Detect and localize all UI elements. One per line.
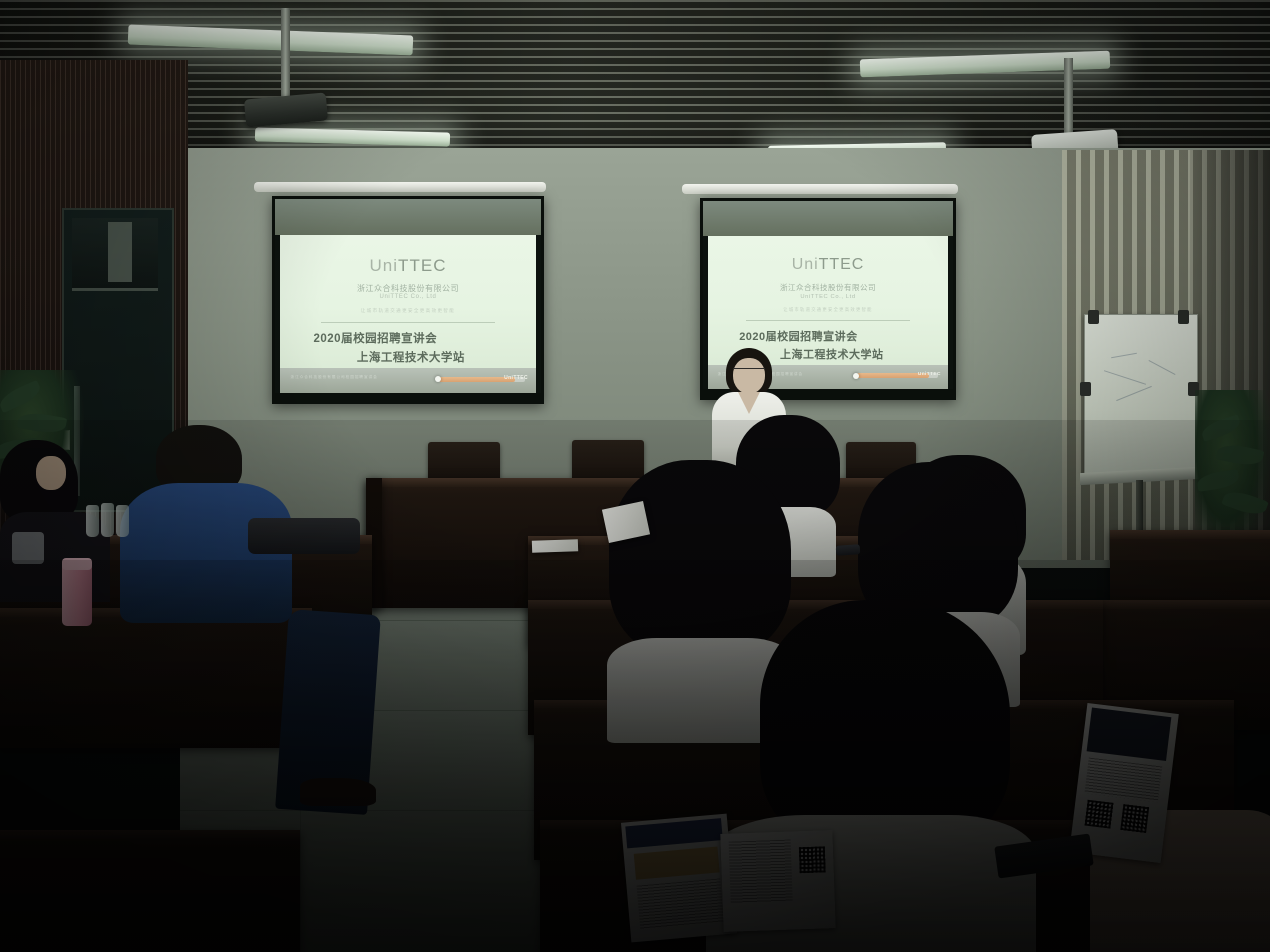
easel-clip-right — [1178, 310, 1189, 324]
screen-roller-case — [682, 184, 958, 194]
logo-text-ttec: TTEC — [819, 256, 865, 273]
qr-code-icon — [1085, 800, 1114, 829]
slide-progress-knob — [435, 376, 441, 382]
slide-footer-bar: 浙江众合科技股份有限公司校园招聘宣讲会 UniTTEC — [280, 368, 535, 393]
attendee-shoe — [300, 778, 376, 806]
water-bottle-3[interactable] — [116, 505, 129, 537]
slide-tagline: 让城市轨道交通更安全更高效更智能 — [280, 308, 535, 314]
projector-mount-pole — [1064, 58, 1073, 136]
plant-leaf — [1196, 469, 1240, 492]
brochure-on-desk-left[interactable] — [532, 539, 578, 553]
plant-leaf — [17, 410, 67, 436]
slide-subtitle: 上海工程技术大学站 — [357, 349, 465, 365]
transom-pane — [108, 222, 132, 282]
water-bottle-2[interactable] — [101, 503, 114, 537]
logo-text-uni: Uni — [792, 256, 819, 273]
slide-divider — [746, 320, 909, 321]
logo-text-uni: Uni — [369, 256, 398, 275]
whiteboard-easel[interactable] — [1078, 310, 1202, 530]
open-brochure-right-page[interactable] — [720, 830, 835, 932]
screen-dead-band — [275, 199, 541, 235]
slide-footer-logo: UniTTEC — [504, 375, 528, 381]
left-projection-screen: UniTTEC 浙江众合科技股份有限公司 UniTTEC Co., Ltd 让城… — [272, 196, 544, 404]
brochure-header-band — [625, 818, 723, 848]
plant-leaf — [1221, 487, 1269, 519]
brochure-cover-photo — [1087, 708, 1172, 761]
plant-leaf — [1216, 441, 1265, 468]
slide-title: 2020届校园招聘宣讲会 — [314, 330, 438, 346]
desk-surface — [1110, 530, 1270, 539]
attendee-hair — [760, 600, 1010, 850]
brochure-body-text — [1084, 758, 1162, 803]
plant-leaf — [0, 380, 44, 413]
glasses-icon — [733, 368, 765, 375]
slide-content-left: UniTTEC 浙江众合科技股份有限公司 UniTTEC Co., Ltd 让城… — [280, 235, 535, 393]
easel-clip-left — [1088, 310, 1099, 324]
screen-bottom-bar — [275, 393, 541, 401]
phone-on-desk[interactable] — [836, 544, 861, 556]
slide-progress-knob — [853, 373, 859, 379]
screen-dead-band — [703, 201, 953, 236]
door-transom-window — [72, 218, 158, 291]
whiteboard-marking — [1104, 370, 1146, 385]
open-brochure-left-page[interactable] — [621, 814, 737, 943]
black-backpack — [248, 518, 360, 554]
thermos-lid — [62, 558, 92, 570]
left-desk-2 — [0, 608, 312, 748]
logo-text-ttec: TTEC — [398, 256, 446, 275]
slide-footer-note: 浙江众合科技股份有限公司校园招聘宣讲会 — [291, 375, 378, 380]
pink-thermos-bottle[interactable] — [62, 563, 92, 626]
slide-title: 2020届校园招聘宣讲会 — [739, 328, 857, 344]
brochure-body-text — [637, 878, 725, 929]
slide-company-name-en: UniTTEC Co., Ltd — [708, 294, 948, 300]
screen-roller-case — [254, 182, 546, 192]
slide-tagline: 让城市轨道交通更安全更高效更智能 — [708, 307, 948, 313]
slide-company-name-cn: 浙江众合科技股份有限公司 — [708, 282, 948, 293]
water-bottle-1[interactable] — [86, 505, 99, 537]
slide-company-name-en: UniTTEC Co., Ltd — [280, 294, 535, 300]
slide-company-name-cn: 浙江众合科技股份有限公司 — [280, 283, 535, 294]
screen-frame: UniTTEC 浙江众合科技股份有限公司 UniTTEC Co., Ltd 让城… — [272, 196, 544, 404]
projector-mount-pole — [281, 8, 290, 100]
projector-body — [244, 92, 328, 127]
easel-clip-side-left — [1080, 382, 1091, 396]
lecture-room-photo: UniTTEC 浙江众合科技股份有限公司 UniTTEC Co., Ltd 让城… — [0, 0, 1270, 952]
whiteboard-marking — [1149, 360, 1176, 375]
whiteboard-surface — [1084, 314, 1198, 474]
brochure-body-text — [729, 840, 793, 904]
slide-logo: UniTTEC — [280, 256, 535, 276]
whiteboard-marking — [1116, 386, 1152, 401]
brochure-photo — [634, 847, 720, 880]
slide-logo: UniTTEC — [708, 256, 948, 274]
plant-leaf — [1200, 414, 1243, 442]
ceiling-projector-left-icon — [245, 8, 335, 133]
desk-surface — [0, 830, 300, 839]
attendee-face — [36, 456, 66, 490]
shirt-graphic-print — [12, 532, 44, 564]
qr-code-icon — [799, 846, 826, 873]
presenter-face — [733, 358, 765, 394]
left-desk-3 — [0, 830, 300, 952]
slide-footer-logo: UniTTEC — [918, 372, 941, 377]
whiteboard-marking — [1111, 353, 1137, 358]
slide-divider — [321, 322, 495, 323]
qr-code-icon — [1120, 804, 1149, 833]
